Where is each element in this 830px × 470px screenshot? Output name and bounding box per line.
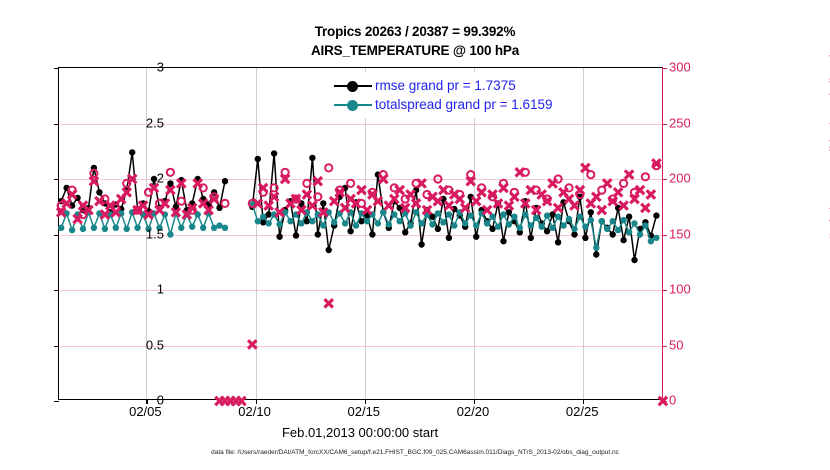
obs-assimilated-marker [592, 193, 600, 201]
tick-left [54, 401, 59, 402]
obs-assimilated-marker [330, 197, 338, 205]
data-point [260, 214, 266, 220]
y-tick-label-right: 100 [669, 282, 691, 297]
data-point [369, 231, 375, 237]
data-point [129, 149, 135, 155]
data-point [255, 156, 261, 162]
data-point [124, 226, 130, 232]
chart-figure: Tropics 20263 / 20387 = 99.392% AIRS_TEM… [0, 0, 830, 470]
data-point [626, 214, 632, 220]
data-point [386, 221, 392, 227]
data-point [500, 211, 506, 217]
obs-possible-marker [167, 169, 174, 176]
legend-label-totalspread: totalspread grand pr = 1.6159 [375, 97, 553, 112]
data-point [446, 211, 452, 217]
data-point [80, 226, 86, 232]
data-point [402, 229, 408, 235]
data-point [189, 224, 195, 230]
obs-assimilated-marker [625, 170, 633, 178]
obs-assimilated-marker [379, 175, 387, 183]
data-point [320, 200, 326, 206]
data-point [375, 220, 381, 226]
obs-possible-marker [642, 173, 649, 180]
data-point [588, 217, 594, 223]
data-point [549, 225, 555, 231]
obs-assimilated-marker [445, 201, 453, 209]
data-point [134, 225, 140, 231]
data-point [489, 226, 495, 232]
data-point [462, 220, 468, 226]
data-point [555, 239, 561, 245]
obs-assimilated-marker [554, 204, 562, 212]
data-point [642, 222, 648, 228]
data-point [648, 238, 654, 244]
data-point [293, 232, 299, 238]
y-tick-label-left: 0.5 [146, 337, 164, 352]
data-point [473, 222, 479, 228]
data-point [58, 225, 64, 231]
y-tick-label-left: 2.5 [146, 115, 164, 130]
x-tick-label: 02/10 [238, 404, 271, 419]
obs-possible-marker [221, 200, 228, 207]
obs-assimilated-marker [472, 197, 480, 205]
data-point [544, 228, 550, 234]
data-point [555, 214, 561, 220]
data-point [577, 214, 583, 220]
obs-assimilated-marker [325, 299, 333, 307]
data-point [528, 235, 534, 241]
x-tick-label: 02/25 [566, 404, 599, 419]
data-point [533, 215, 539, 221]
obs-assimilated-marker [510, 193, 518, 201]
data-point [593, 245, 599, 251]
data-point [620, 237, 626, 243]
data-point [276, 221, 282, 227]
data-point [588, 209, 594, 215]
data-point [637, 231, 643, 237]
obs-assimilated-marker [499, 184, 507, 192]
data-point [511, 214, 517, 220]
obs-assimilated-marker [248, 340, 256, 348]
data-point [582, 235, 588, 241]
data-point [610, 231, 616, 237]
obs-assimilated-marker [505, 201, 513, 209]
data-point [571, 226, 577, 232]
obs-assimilated-marker [166, 186, 174, 194]
obs-assimilated-marker [647, 190, 655, 198]
obs-assimilated-marker [417, 179, 425, 187]
data-point [222, 225, 228, 231]
y-tick-label-left: 3 [157, 60, 164, 75]
data-point [418, 241, 424, 247]
data-point [271, 150, 277, 156]
data-point [407, 222, 413, 228]
data-point [473, 234, 479, 240]
data-point [298, 220, 304, 226]
x-tick-label: 02/15 [347, 404, 380, 419]
data-point [522, 211, 528, 217]
obs-assimilated-marker [439, 186, 447, 194]
data-point [571, 231, 577, 237]
y-tick-label-right: 0 [669, 393, 676, 408]
data-point [582, 224, 588, 230]
data-point [167, 231, 173, 237]
data-point [435, 226, 441, 232]
data-point [91, 225, 97, 231]
data-point [391, 211, 397, 217]
data-point [266, 220, 272, 226]
data-point [631, 257, 637, 263]
obs-assimilated-marker [614, 188, 622, 196]
data-point [347, 228, 353, 234]
data-point [653, 235, 659, 241]
data-point [320, 222, 326, 228]
data-point [287, 218, 293, 224]
data-point [276, 234, 282, 240]
legend-swatch-rmse [334, 85, 372, 87]
data-point [544, 212, 550, 218]
y-tick-label-left: 1.5 [146, 226, 164, 241]
y-tick-label-right: 300 [669, 60, 691, 75]
data-point [495, 224, 501, 230]
x-tick-label: 02/20 [457, 404, 490, 419]
data-point [309, 155, 315, 161]
obs-assimilated-marker [314, 177, 322, 185]
y-tick-label-right: 200 [669, 171, 691, 186]
data-point [566, 216, 572, 222]
data-point [599, 218, 605, 224]
data-point [604, 226, 610, 232]
obs-assimilated-marker [641, 204, 649, 212]
obs-possible-marker [347, 180, 354, 187]
obs-assimilated-marker [603, 179, 611, 187]
data-point [418, 220, 424, 226]
obs-assimilated-marker [357, 186, 365, 194]
x-axis-label: Feb.01,2013 00:00:00 start [0, 425, 720, 440]
data-point [610, 218, 616, 224]
data-point [468, 212, 474, 218]
data-point [560, 222, 566, 228]
y-tick-label-left: 2 [157, 171, 164, 186]
data-point [631, 220, 637, 226]
data-point [484, 220, 490, 226]
legend: rmse grand pr = 1.7375 totalspread grand… [330, 72, 559, 118]
legend-item-totalspread: totalspread grand pr = 1.6159 [334, 95, 553, 114]
data-point [331, 219, 337, 225]
y-tick-label-right: 150 [669, 226, 691, 241]
y-tick-label-right: 50 [669, 337, 683, 352]
data-point [626, 229, 632, 235]
obs-possible-marker [303, 180, 310, 187]
chart-title: Tropics 20263 / 20387 = 99.392% AIRS_TEM… [0, 22, 830, 60]
data-point [304, 218, 310, 224]
data-point [216, 222, 222, 228]
data-point [326, 247, 332, 253]
obs-possible-marker [325, 164, 332, 171]
obs-possible-marker [620, 180, 627, 187]
data-point [178, 225, 184, 231]
obs-assimilated-marker [406, 190, 414, 198]
legend-item-rmse: rmse grand pr = 1.7375 [334, 76, 553, 95]
x-tick-label: 02/05 [129, 404, 162, 419]
data-point [255, 218, 261, 224]
obs-assimilated-marker [581, 164, 589, 172]
y-tick-label-right: 250 [669, 115, 691, 130]
data-point [506, 221, 512, 227]
data-point [222, 178, 228, 184]
obs-assimilated-marker [477, 188, 485, 196]
data-point [96, 189, 102, 195]
data-point [200, 225, 206, 231]
data-point [653, 212, 659, 218]
obs-assimilated-marker [619, 201, 627, 209]
title-line-2: AIRS_TEMPERATURE @ 100 hPa [0, 41, 830, 60]
obs-assimilated-marker [598, 206, 606, 214]
obs-assimilated-marker [548, 179, 556, 187]
data-file-footer: data file: /Users/raeder/DAI/ATM_forcXX/… [0, 449, 830, 456]
data-point [364, 218, 370, 224]
data-point [315, 231, 321, 237]
legend-label-rmse: rmse grand pr = 1.7375 [375, 78, 516, 93]
data-point [342, 220, 348, 226]
data-point [620, 217, 626, 223]
obs-assimilated-marker [570, 201, 578, 209]
data-point [429, 221, 435, 227]
data-point [446, 235, 452, 241]
data-point [615, 227, 621, 233]
obs-assimilated-marker [576, 186, 584, 194]
data-point [353, 222, 359, 228]
data-point [309, 218, 315, 224]
title-line-1: Tropics 20263 / 20387 = 99.392% [0, 22, 830, 41]
data-point [102, 226, 108, 232]
data-point [528, 222, 534, 228]
obs-possible-marker [434, 175, 441, 182]
data-point [435, 210, 441, 216]
data-point [539, 224, 545, 230]
data-point [397, 218, 403, 224]
legend-swatch-totalspread [334, 104, 372, 106]
obs-assimilated-marker [516, 168, 524, 176]
obs-possible-marker [178, 198, 185, 205]
data-point [500, 238, 506, 244]
data-point [451, 222, 457, 228]
data-point [593, 251, 599, 257]
y-tick-label-left: 1 [157, 282, 164, 297]
data-point [113, 225, 119, 231]
obs-assimilated-marker [527, 186, 535, 194]
data-point [440, 219, 446, 225]
data-point [517, 225, 523, 231]
data-point [413, 209, 419, 215]
data-point [69, 227, 75, 233]
